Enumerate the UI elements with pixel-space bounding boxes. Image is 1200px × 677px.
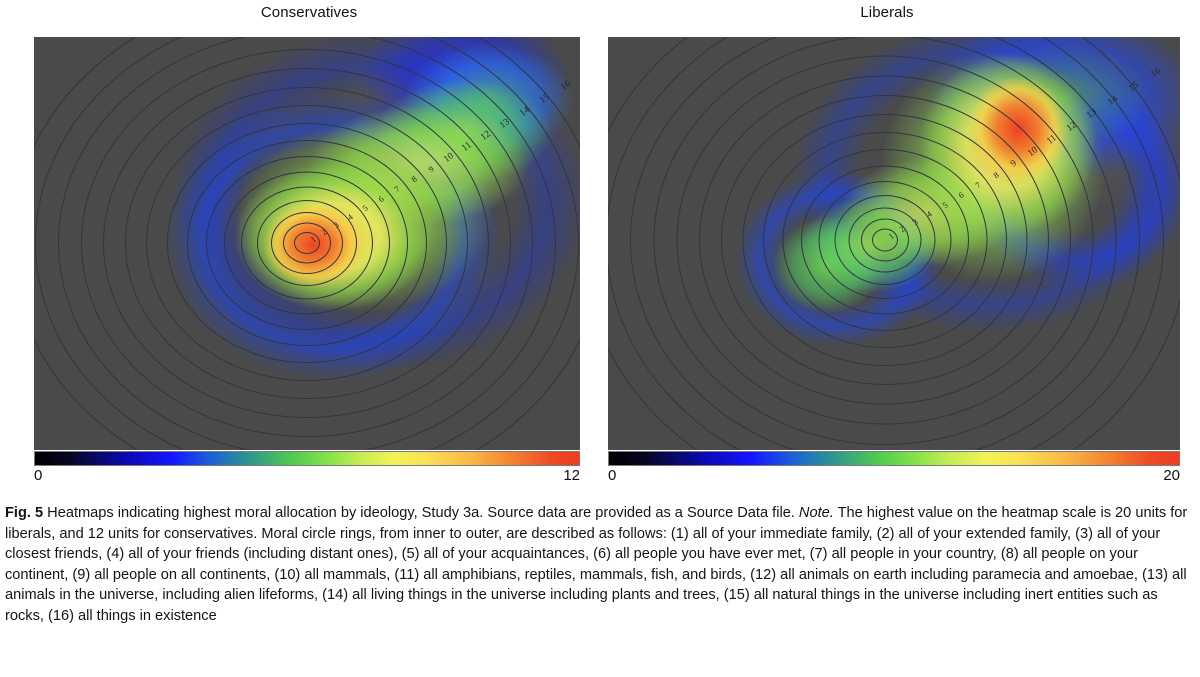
ring-label-2: 2 (319, 227, 328, 238)
colorbar-gradient-conservatives (34, 451, 580, 466)
figure-caption: Fig. 5 Heatmaps indicating highest moral… (5, 503, 1195, 626)
ring-label-10: 10 (1026, 145, 1040, 159)
colorbar-min-label-conservatives: 0 (34, 467, 42, 484)
caption-note-label: Note. (799, 505, 834, 521)
caption-main: Heatmaps indicating highest moral alloca… (47, 505, 795, 521)
ring-label-7: 7 (973, 180, 982, 191)
ring-label-5: 5 (360, 203, 369, 214)
colorbar-ticks-liberals: 0 20 (608, 467, 1180, 487)
ring-label-2: 2 (897, 224, 906, 235)
ring-label-1: 1 (308, 234, 317, 245)
ring-label-8: 8 (991, 170, 1000, 181)
panel-title-conservatives: Conservatives (22, 4, 596, 21)
ring-label-12: 12 (1065, 120, 1079, 134)
ring-label-13: 13 (1085, 107, 1099, 121)
ring-label-9: 9 (1009, 159, 1019, 170)
ring-label-3: 3 (910, 217, 919, 228)
caption-rest: The highest value on the heatmap scale i… (5, 505, 1187, 624)
ring-label-16: 16 (1149, 66, 1163, 80)
ring-number-labels-conservatives: 1 2 3 4 5 6 7 8 9 10 11 12 13 14 15 16 (34, 37, 580, 450)
colorbar-max-label-liberals: 20 (1163, 467, 1180, 484)
colorbar-ticks-conservatives: 0 12 (34, 467, 580, 487)
colorbar-min-label-liberals: 0 (608, 467, 616, 484)
colorbar-max-label-conservatives: 12 (563, 467, 580, 484)
ring-label-4: 4 (924, 209, 933, 220)
ring-label-11: 11 (1045, 133, 1058, 146)
ring-label-3: 3 (331, 220, 340, 231)
ring-label-5: 5 (940, 200, 949, 211)
ring-label-16: 16 (559, 79, 573, 93)
colorbar-liberals: 0 20 (608, 451, 1180, 487)
ring-label-13: 13 (498, 117, 512, 131)
ring-label-11: 11 (460, 140, 473, 153)
colorbar-conservatives: 0 12 (34, 451, 580, 487)
ring-label-14: 14 (518, 105, 532, 119)
panel-conservatives: Conservatives (22, 0, 596, 497)
ring-label-8: 8 (409, 174, 418, 185)
ring-label-1: 1 (886, 231, 895, 242)
colorbar-gradient-liberals (608, 451, 1180, 466)
ring-label-6: 6 (376, 194, 385, 205)
ring-label-9: 9 (426, 164, 435, 175)
ring-label-4: 4 (345, 212, 354, 223)
ring-label-6: 6 (956, 190, 965, 201)
ring-label-10: 10 (442, 151, 456, 165)
ring-label-15: 15 (538, 92, 552, 106)
heatmap-liberals: 1 2 3 4 5 6 7 8 9 10 11 12 13 14 15 16 (608, 37, 1180, 450)
panel-title-liberals: Liberals (600, 4, 1174, 21)
heatmap-panels: Conservatives (0, 0, 1200, 497)
panel-liberals: Liberals (600, 0, 1174, 497)
ring-label-12: 12 (479, 129, 493, 143)
heatmap-conservatives: 1 2 3 4 5 6 7 8 9 10 11 12 13 14 15 16 (34, 37, 580, 450)
ring-label-7: 7 (392, 184, 401, 195)
ring-number-labels-liberals: 1 2 3 4 5 6 7 8 9 10 11 12 13 14 15 16 (608, 37, 1180, 450)
figure-5: Conservatives (0, 0, 1200, 677)
figure-label: Fig. 5 (5, 505, 43, 521)
ring-label-14: 14 (1106, 94, 1120, 108)
ring-label-15: 15 (1127, 80, 1141, 94)
